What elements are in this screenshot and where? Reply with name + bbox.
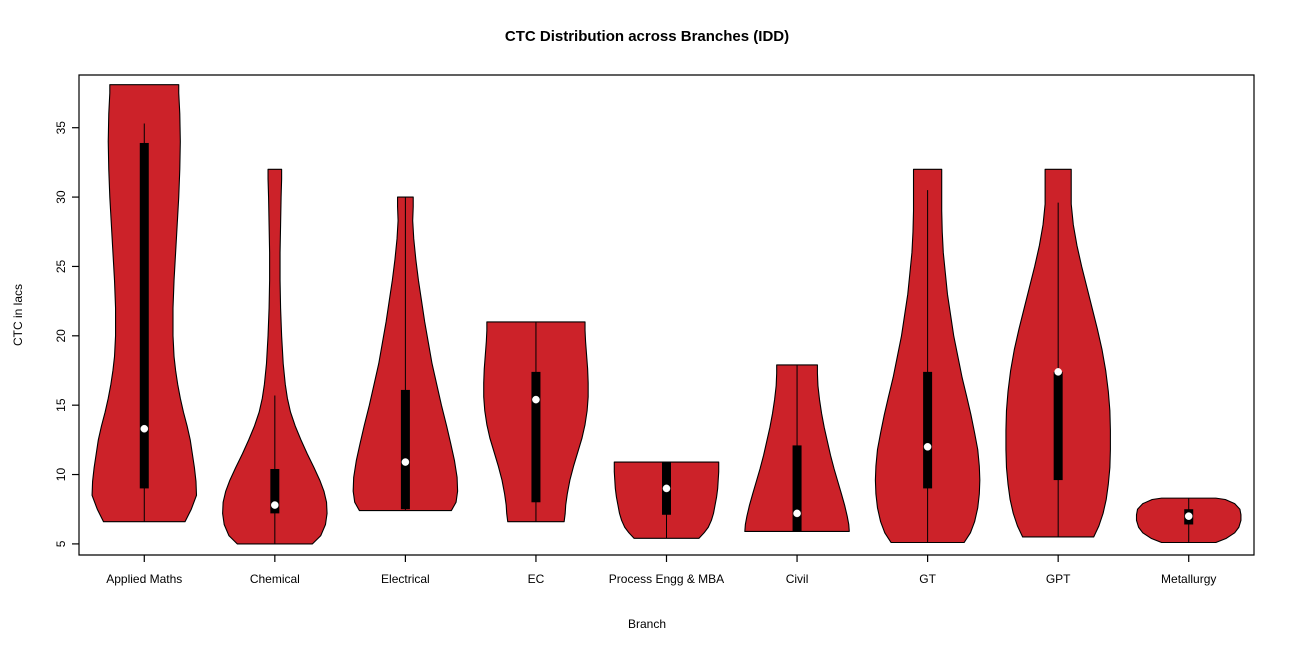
violin-ec [484, 322, 588, 522]
median-marker [402, 458, 409, 465]
y-tick-label: 15 [54, 398, 68, 412]
y-axis-title: CTC in lacs [11, 284, 25, 346]
violin-applied-maths [92, 85, 196, 522]
y-tick-label: 25 [54, 259, 68, 273]
violin-civil [745, 365, 849, 531]
plot-svg: CTC Distribution across Branches (IDD) C… [0, 0, 1294, 653]
iqr-box [793, 445, 802, 531]
violin-gt [875, 169, 979, 542]
iqr-box [1054, 372, 1063, 480]
x-tick-label-chemical: Chemical [250, 572, 300, 586]
median-marker [1055, 368, 1062, 375]
x-tick-label-civil: Civil [786, 572, 809, 586]
y-tick-label: 10 [54, 468, 68, 482]
iqr-box [531, 372, 540, 502]
iqr-box [140, 143, 149, 488]
x-tick-label-process-engg-mba: Process Engg & MBA [609, 572, 724, 586]
iqr-box [401, 390, 410, 509]
x-tick-label-applied-maths: Applied Maths [106, 572, 182, 586]
x-tick-label-gpt: GPT [1046, 572, 1071, 586]
violin-electrical [353, 197, 457, 511]
y-tick-label: 20 [54, 329, 68, 343]
median-marker [271, 501, 278, 508]
violin-chemical [223, 169, 327, 544]
x-axis-title: Branch [628, 617, 666, 631]
x-tick-label-ec: EC [528, 572, 545, 586]
median-marker [924, 443, 931, 450]
page-title: CTC Distribution across Branches (IDD) [505, 28, 789, 45]
median-marker [793, 510, 800, 517]
x-tick-label-electrical: Electrical [381, 572, 430, 586]
violin-chart-figure: CTC Distribution across Branches (IDD) C… [0, 0, 1294, 653]
y-tick-label: 5 [54, 540, 68, 547]
x-tick-label-metallurgy: Metallurgy [1161, 572, 1216, 586]
iqr-box [923, 372, 932, 489]
violin-process-engg-mba [614, 462, 718, 538]
violin-series-group [92, 85, 1241, 544]
y-tick-label: 35 [54, 121, 68, 135]
violin-gpt [1006, 169, 1110, 537]
median-marker [663, 485, 670, 492]
y-tick-label: 30 [54, 190, 68, 204]
violin-metallurgy [1137, 498, 1241, 542]
median-marker [1185, 513, 1192, 520]
x-tick-label-gt: GT [919, 572, 936, 586]
median-marker [141, 425, 148, 432]
x-axis: Applied MathsChemicalElectricalECProcess… [106, 555, 1216, 586]
median-marker [532, 396, 539, 403]
y-axis: 5101520253035 [54, 121, 79, 548]
